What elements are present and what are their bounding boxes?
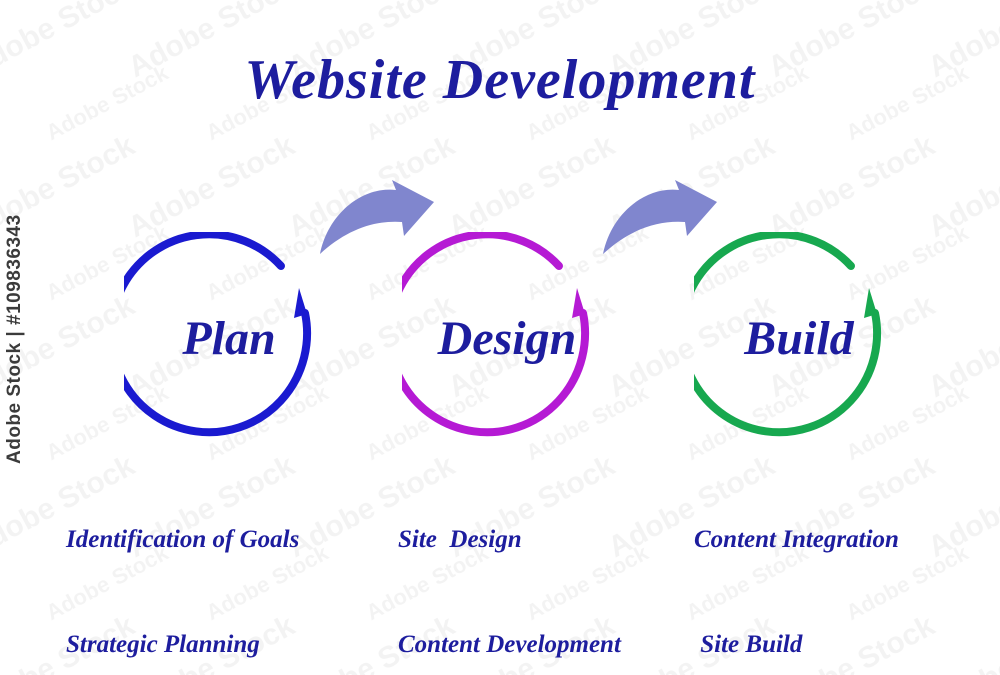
watermark-tile: Adobe Stock	[443, 129, 621, 245]
design-ring-icon	[402, 232, 612, 444]
stage-plan[interactable]: Plan	[124, 232, 334, 444]
watermark-tile: Adobe Stock	[763, 129, 941, 245]
list-item: Content Development	[398, 627, 621, 662]
diagram-canvas: Adobe StockAdobe StockAdobe StockAdobe S…	[0, 0, 1000, 675]
list-item: Content Integration	[694, 522, 899, 557]
plan-deliverables-list: Identification of Goals Strategic Planni…	[66, 452, 299, 675]
stock-watermark-id: Adobe Stock | #109836343	[4, 249, 36, 464]
watermark-tile: Adobe Stock	[923, 129, 1000, 245]
stage-design[interactable]: Design	[402, 232, 612, 444]
design-deliverables-list: Site Design Content Development	[398, 452, 621, 675]
build-ring-icon	[694, 232, 904, 444]
watermark-tile: Adobe Stock	[923, 609, 1000, 675]
list-item: Site Design	[398, 522, 621, 557]
watermark-tile: Adobe Stock	[923, 449, 1000, 565]
watermark-tile: Adobe Stock	[923, 289, 1000, 405]
plan-ring-icon	[124, 232, 334, 444]
watermark-tile: Adobe Stock	[123, 129, 301, 245]
arrow-plan-to-design-icon	[318, 180, 448, 258]
build-deliverables-list: Content Integration Site Build Fine Tuni…	[694, 452, 899, 675]
list-item: Strategic Planning	[66, 627, 299, 662]
arrow-design-to-build-icon	[601, 180, 731, 258]
list-item: Site Build	[694, 627, 899, 662]
stage-build[interactable]: Build	[694, 232, 904, 444]
page-title: Website Development	[0, 48, 1000, 112]
list-item: Identification of Goals	[66, 522, 299, 557]
